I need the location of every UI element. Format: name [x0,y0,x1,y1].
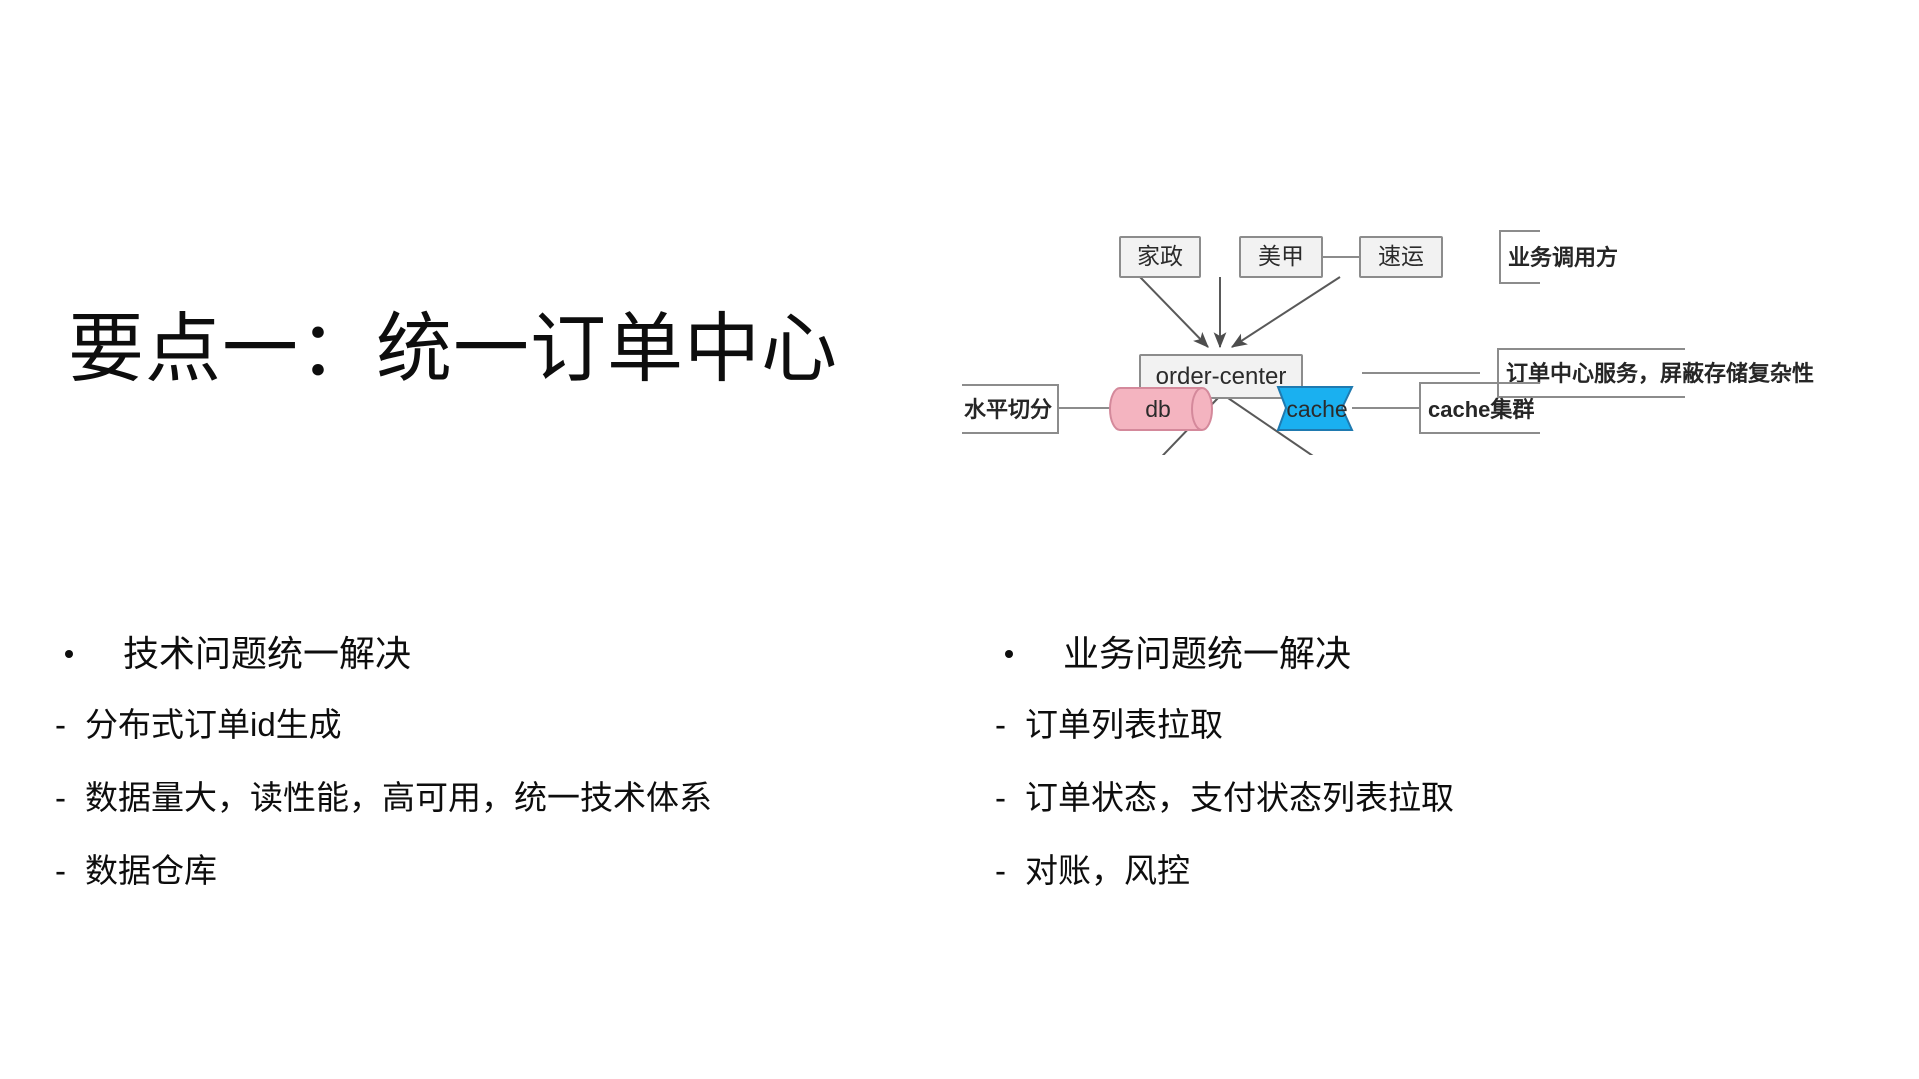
bullet-dot-icon [65,650,73,658]
dash-icon: - [995,708,1006,741]
list-item-label: 对账，风控 [1025,852,1190,889]
list-item-label: 订单列表拉取 [1025,706,1223,743]
db-label: db [1145,396,1171,422]
slide-canvas: 要点一：统一订单中心 [0,0,1919,1079]
list-item-label: 数据量大，读性能，高可用，统一技术体系 [85,779,712,816]
list-item-label: 数据仓库 [85,852,217,889]
edge-group-callers [1140,277,1340,347]
cache-cluster-label: cache集群 [1428,397,1534,422]
dash-icon: - [995,781,1006,814]
bullet-column-left: 技术问题统一解决 - 分布式订单id生成 - 数据量大，读性能，高可用，统一技术… [55,636,915,927]
sub-list-business: - 订单列表拉取 - 订单状态，支付状态列表拉取 - 对账，风控 [995,708,1855,887]
list-item: - 对账，风控 [995,854,1855,887]
architecture-diagram-svg: 家政 美甲 速运 业务调用方 order-center [940,165,1900,455]
diagram-node-cache[interactable]: cache [1278,387,1352,430]
diagram-node-meijia[interactable]: 美甲 [1240,237,1322,277]
order-center-note-label: 订单中心服务，屏蔽存储复杂性 [1506,361,1814,386]
dash-icon: - [55,708,66,741]
meijia-label: 美甲 [1258,243,1304,269]
annotation-cache-cluster: cache集群 [1420,383,1540,433]
dash-icon: - [55,854,66,887]
list-item: - 分布式订单id生成 [55,708,915,741]
bullet-column-right: 业务问题统一解决 - 订单列表拉取 - 订单状态，支付状态列表拉取 - 对账，风… [995,636,1855,927]
edge-suyun-to-order-center [1232,277,1340,347]
horizontal-sharding-label: 水平切分 [964,397,1052,422]
suyun-label: 速运 [1378,243,1424,269]
page-title: 要点一：统一订单中心 [68,306,838,393]
bullet-dot-icon [1005,650,1013,658]
list-item-label: 订单状态，支付状态列表拉取 [1025,779,1454,816]
business-callers-label: 业务调用方 [1508,245,1618,270]
bullet-heading-technical-label: 技术问题统一解决 [123,633,411,674]
order-center-label: order-center [1156,363,1287,390]
bullet-heading-technical: 技术问题统一解决 [55,636,915,672]
edge-jiazheng-to-order-center [1140,277,1208,347]
list-item: - 订单列表拉取 [995,708,1855,741]
annotation-business-callers: 业务调用方 [1500,231,1618,283]
bullet-heading-business-label: 业务问题统一解决 [1063,633,1351,674]
cache-label: cache [1286,396,1347,422]
annotation-order-center-note: 订单中心服务，屏蔽存储复杂性 [1498,349,1814,397]
bullet-heading-business: 业务问题统一解决 [995,636,1855,672]
diagram-node-suyun[interactable]: 速运 [1360,237,1442,277]
diagram-node-db[interactable]: db [1110,388,1212,430]
jiazheng-label: 家政 [1137,243,1183,269]
sub-list-technical: - 分布式订单id生成 - 数据量大，读性能，高可用，统一技术体系 - 数据仓库 [55,708,915,887]
list-item: - 数据仓库 [55,854,915,887]
annotation-horizontal-sharding: 水平切分 [962,385,1058,433]
list-item: - 订单状态，支付状态列表拉取 [995,781,1855,814]
dash-icon: - [55,781,66,814]
list-item-label: 分布式订单id生成 [85,706,342,743]
architecture-diagram: 家政 美甲 速运 业务调用方 order-center [940,165,1900,455]
dash-icon: - [995,854,1006,887]
diagram-node-jiazheng[interactable]: 家政 [1120,237,1200,277]
list-item: - 数据量大，读性能，高可用，统一技术体系 [55,781,915,814]
